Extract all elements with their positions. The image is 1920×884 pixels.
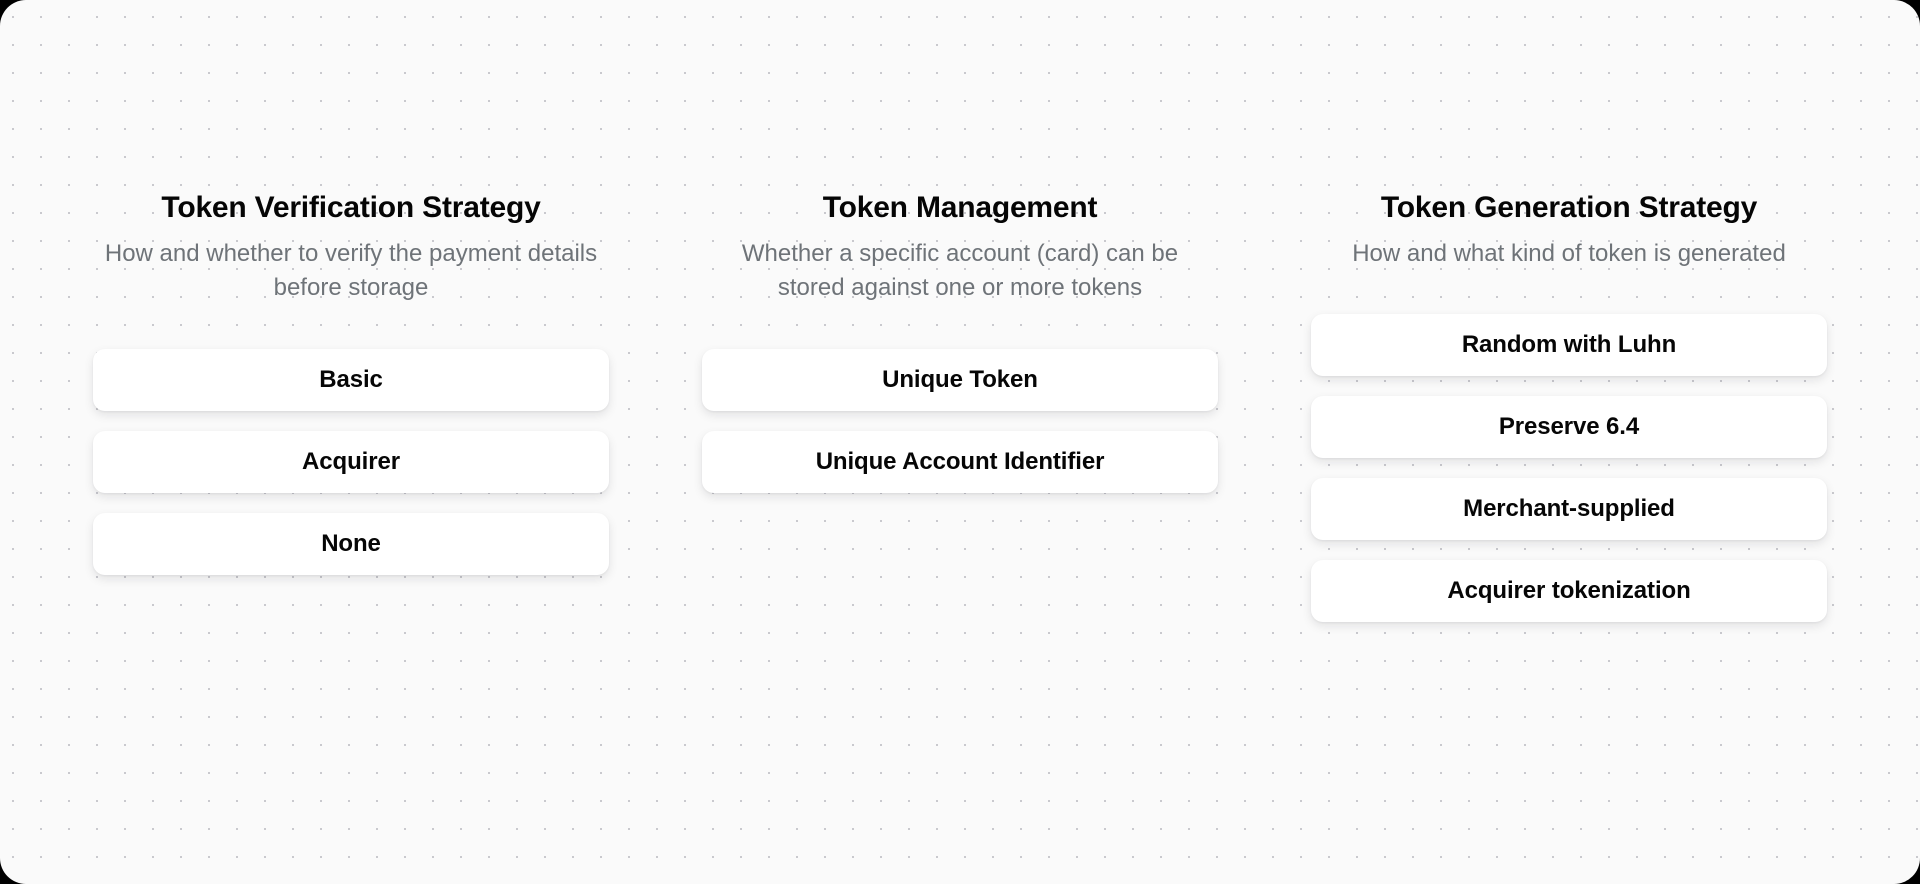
column-title: Token Verification Strategy <box>97 190 605 225</box>
column-header: Token Generation Strategy How and what k… <box>1311 190 1827 271</box>
option-card-random-with-luhn[interactable]: Random with Luhn <box>1311 314 1827 376</box>
option-card-acquirer-tokenization[interactable]: Acquirer tokenization <box>1311 560 1827 622</box>
option-card-none[interactable]: None <box>93 513 609 575</box>
option-card-merchant-supplied[interactable]: Merchant-supplied <box>1311 478 1827 540</box>
option-card-unique-token[interactable]: Unique Token <box>702 349 1218 411</box>
strategy-column-token-verification: Token Verification Strategy How and whet… <box>93 190 609 575</box>
option-card-label: Random with Luhn <box>1462 331 1676 359</box>
tokenization-strategy-board: Token Verification Strategy How and whet… <box>0 0 1920 884</box>
column-title: Token Generation Strategy <box>1315 190 1823 225</box>
option-card-preserve-6-4[interactable]: Preserve 6.4 <box>1311 396 1827 458</box>
column-description: How and whether to verify the payment de… <box>97 237 605 305</box>
column-description: How and what kind of token is generated <box>1315 237 1823 271</box>
option-card-label: Preserve 6.4 <box>1499 413 1639 441</box>
option-card-label: Acquirer <box>302 448 400 476</box>
option-card-basic[interactable]: Basic <box>93 349 609 411</box>
option-card-label: Merchant-supplied <box>1463 495 1675 523</box>
option-card-label: Unique Token <box>882 366 1038 394</box>
column-title: Token Management <box>706 190 1214 225</box>
strategy-column-token-generation: Token Generation Strategy How and what k… <box>1311 190 1827 622</box>
column-header: Token Verification Strategy How and whet… <box>93 190 609 306</box>
option-card-list: Random with Luhn Preserve 6.4 Merchant-s… <box>1311 314 1827 622</box>
column-description: Whether a specific account (card) can be… <box>706 237 1214 305</box>
strategy-columns: Token Verification Strategy How and whet… <box>0 190 1920 622</box>
option-card-list: Unique Token Unique Account Identifier <box>702 349 1218 493</box>
option-card-list: Basic Acquirer None <box>93 349 609 575</box>
strategy-column-token-management: Token Management Whether a specific acco… <box>702 190 1218 493</box>
option-card-label: Unique Account Identifier <box>816 448 1105 476</box>
option-card-unique-account-identifier[interactable]: Unique Account Identifier <box>702 431 1218 493</box>
option-card-label: None <box>321 530 381 558</box>
option-card-label: Acquirer tokenization <box>1447 577 1690 605</box>
column-header: Token Management Whether a specific acco… <box>702 190 1218 306</box>
option-card-acquirer[interactable]: Acquirer <box>93 431 609 493</box>
option-card-label: Basic <box>319 366 383 394</box>
